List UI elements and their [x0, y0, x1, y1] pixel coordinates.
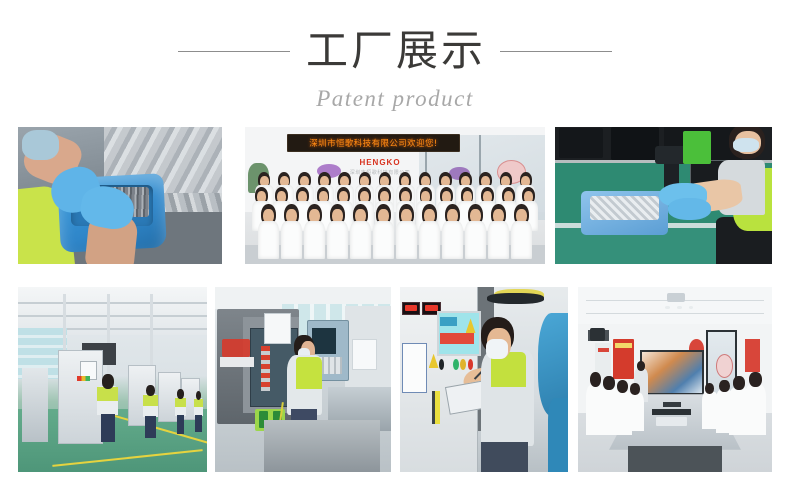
push-button-black — [439, 359, 445, 370]
door-emblem — [716, 354, 734, 378]
table-base — [628, 446, 721, 472]
attendee-right-3 — [716, 380, 733, 434]
worker-4 — [194, 391, 203, 432]
machine-left — [22, 368, 48, 442]
worker-sleeve — [22, 130, 59, 160]
title-rule-left — [178, 51, 290, 52]
push-button-green — [453, 359, 459, 370]
green-equipment-box — [683, 131, 711, 164]
monitor-left — [559, 128, 602, 158]
ceiling-projector — [667, 293, 684, 302]
keyboard — [656, 417, 687, 426]
wall-speaker — [590, 328, 606, 341]
led-banner-text: 深圳市恒歌科技有限公司欢迎您! — [309, 137, 437, 149]
page-subtitle: Patent product — [0, 86, 790, 112]
table-cable-tray — [652, 409, 691, 415]
status-lights — [77, 376, 90, 382]
ceiling-beam-2 — [18, 315, 207, 317]
page-title: 工厂展示 — [306, 27, 486, 75]
button-row — [437, 359, 477, 370]
attendee-right-4 — [702, 383, 718, 429]
wall-poster-right — [745, 339, 761, 372]
title-row: 工厂展示 — [0, 24, 790, 78]
technician-trousers — [481, 442, 528, 472]
gallery-bottom-row — [18, 287, 772, 472]
hmi-red-bar — [440, 333, 474, 344]
white-sintered-parts — [590, 196, 659, 221]
posted-document — [402, 343, 428, 393]
people-row-front — [257, 204, 533, 259]
presentation-display — [640, 350, 704, 395]
steel-fixture-box — [264, 420, 380, 472]
photo-control-panel[interactable] — [400, 287, 568, 472]
photo-production-line[interactable] — [18, 287, 207, 472]
monitor-center — [611, 127, 659, 160]
push-button-white — [446, 359, 452, 370]
title-rule-right — [500, 51, 612, 52]
photo-cnc-lathe[interactable] — [215, 287, 391, 472]
operator-yellow-vest — [296, 357, 322, 388]
worker-1 — [97, 374, 118, 441]
table-microphone — [663, 402, 680, 408]
face-mask — [733, 138, 759, 152]
photo-microscope-inspection[interactable] — [555, 127, 772, 264]
factory-showcase-page: 工厂展示 Patent product — [0, 0, 790, 500]
face-mask — [486, 339, 508, 359]
blue-machine-base — [548, 398, 568, 472]
machine-label — [264, 313, 291, 345]
led-welcome-banner: 深圳市恒歌科技有限公司欢迎您! — [287, 134, 460, 152]
ceiling-light-2 — [677, 306, 682, 310]
photo-parts-sorting[interactable] — [18, 127, 222, 264]
worker-2 — [143, 385, 158, 437]
blue-glove-right — [668, 198, 711, 220]
digital-readout-1 — [402, 302, 421, 315]
page-header: 工厂展示 Patent product — [0, 0, 790, 120]
notice-board — [352, 339, 377, 371]
cabinet-handle — [432, 391, 435, 424]
hmi-blue-bar — [440, 317, 457, 326]
photo-company-group[interactable]: 深圳市恒歌科技有限公司欢迎您! HENGKO 深圳市恒歌科技有限公司 — [245, 127, 545, 264]
machine-brand-plate — [220, 357, 253, 366]
ceiling-line-2 — [586, 313, 764, 314]
worker-3 — [175, 389, 186, 433]
lathe-button-column — [261, 346, 270, 390]
wall-poster-red — [613, 339, 634, 380]
machine-brand-logo — [222, 339, 250, 358]
attendee-left-4 — [627, 383, 644, 431]
photo-meeting-room[interactable] — [578, 287, 772, 472]
black-cable-bundle — [487, 293, 544, 304]
push-button-yellow — [460, 359, 466, 370]
gallery-top-row: 深圳市恒歌科技有限公司欢迎您! HENGKO 深圳市恒歌科技有限公司 — [18, 127, 772, 264]
push-button-red — [468, 359, 474, 370]
wall-logo: HENGKO — [344, 157, 416, 168]
wall-logo-text: HENGKO — [359, 158, 400, 167]
cnc-screen — [312, 328, 337, 354]
ceiling-beam-1 — [18, 302, 207, 304]
